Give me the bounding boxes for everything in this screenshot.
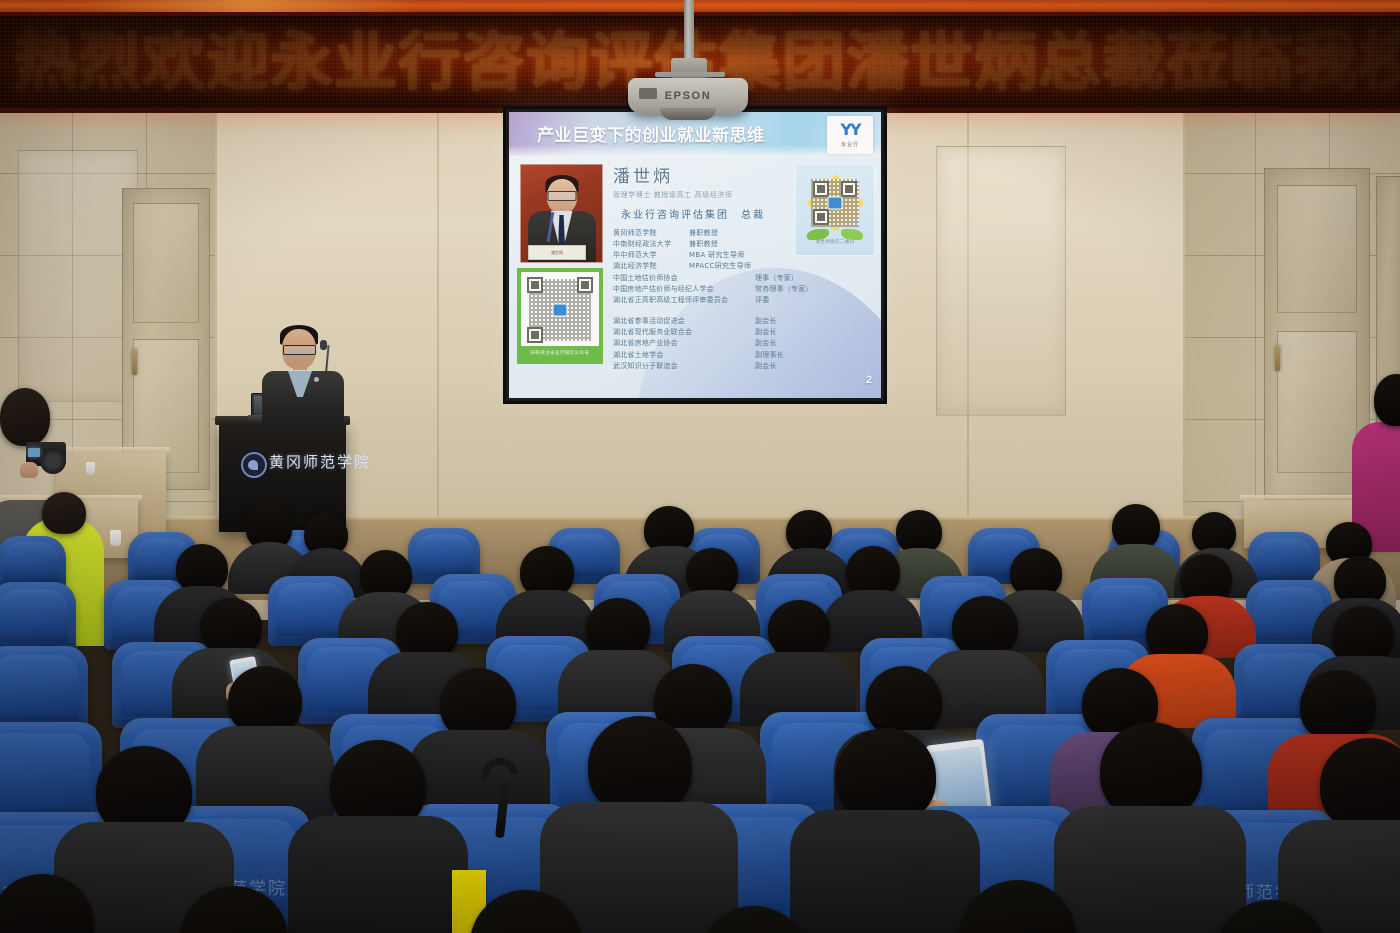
academic-role-title: MPACC研究生导师 (689, 261, 751, 272)
academic-role-row: 华中师范大学 MBA 研究生导师 (613, 250, 785, 261)
association-role-org: 湖北省房地产业协会 (613, 338, 755, 349)
association-role-row: 湖北省参事活动促进会 副会长 (613, 316, 871, 327)
speaker-qualification: 管理学博士 教授级高工 高级经济师 (613, 190, 785, 200)
professional-role-title: 评委 (755, 295, 769, 306)
attendee-body (1054, 806, 1246, 933)
portrait-glasses-icon (547, 191, 576, 201)
attendee-head (768, 600, 830, 658)
academic-role-org: 湖北经济学院 (613, 261, 689, 272)
association-role-org: 武汉知识分子联谊会 (613, 361, 755, 372)
attendee-head (1300, 670, 1376, 742)
professional-role-org: 中国土地估价师协会 (613, 273, 755, 284)
company-logo: YY 永业行 (827, 116, 873, 154)
photographer-head (0, 388, 50, 446)
projector-brand-label: EPSON (628, 90, 748, 102)
attendee-body (790, 810, 980, 933)
professional-role-row: 中国房地产估价师与经纪人学会 常务理事（专家） (613, 284, 871, 295)
wechat-logo-icon (828, 197, 843, 210)
academic-role-org: 中南财经政法大学 (613, 239, 689, 250)
academic-role-title: 兼职教授 (689, 239, 718, 250)
speaker-company-title: 永业行咨询评估集团 总裁 (613, 206, 785, 221)
photographer-hand (20, 462, 38, 478)
projector-arm (655, 72, 725, 77)
portrait-nameplate: 潘世炳 (528, 245, 586, 260)
association-role-row: 湖北省土地学会 副理事长 (613, 350, 871, 361)
attendee-body (288, 816, 468, 933)
association-role-row: 湖北省房地产业协会 副会长 (613, 338, 871, 349)
wechat-qr-sunflower: 潘世炳微信二维码 (795, 164, 875, 256)
wechat-qr-official: 扫码关注永业行微信公众号 (517, 268, 603, 364)
association-role-title: 副会长 (755, 338, 777, 349)
lecture-hall-photo: 热烈欢迎永业行咨询评估集团潘世炳总裁莅临我校讲座 EPSON 产业巨变下的创业就… (0, 0, 1400, 933)
slide-title: 产业巨变下的创业就业新思维 (537, 121, 765, 146)
projector-mount-pole (684, 0, 694, 66)
academic-role-row: 湖北经济学院 MPACC研究生导师 (613, 261, 785, 272)
company-logo-mark: YY (840, 122, 859, 138)
presenter (258, 325, 352, 430)
professional-role-title: 常务理事（专家） (755, 284, 813, 295)
speaker-name: 潘世炳 (613, 162, 785, 187)
association-role-org: 湖北省参事活动促进会 (613, 316, 755, 327)
lapel-mic-icon (314, 377, 319, 382)
professional-role-org: 中国房地产估价师与经纪人学会 (613, 284, 755, 295)
association-role-org: 湖北省现代服务业联合会 (613, 327, 755, 338)
projector-lens-housing (660, 108, 716, 120)
association-role-title: 副会长 (755, 316, 777, 327)
attendee-head (586, 598, 650, 658)
projection-screen: 产业巨变下的创业就业新思维 YY 永业行 潘世炳 (503, 106, 887, 404)
camera-screen (28, 448, 40, 457)
company-logo-subtext: 永业行 (841, 141, 859, 148)
association-role-title: 副会长 (755, 327, 777, 338)
association-roles-list: 湖北省参事活动促进会 副会长 湖北省现代服务业联合会 副会长 湖北省房地产业协会… (613, 316, 871, 372)
academic-role-row: 黄冈师范学院 兼职教授 (613, 228, 785, 239)
attendee-head (866, 666, 942, 738)
academic-role-org: 黄冈师范学院 (613, 228, 689, 239)
slide-content: 产业巨变下的创业就业新思维 YY 永业行 潘世炳 (509, 112, 881, 398)
wechat-logo-icon (553, 304, 568, 317)
academic-role-title: MBA 研究生导师 (689, 250, 745, 261)
podium-institution-name: 黄冈师范学院 (269, 451, 371, 472)
academic-role-row: 中南财经政法大学 兼职教授 (613, 239, 785, 250)
speaker-portrait: 潘世炳 (520, 164, 603, 263)
camera-lens-icon (40, 448, 66, 474)
association-role-title: 副理事长 (755, 350, 784, 361)
slide-page-number: 2 (866, 374, 872, 386)
academic-roles-list: 黄冈师范学院 兼职教授 中南财经政法大学 兼职教授 华中师范大学 MBA 研究生… (613, 228, 785, 271)
academic-role-title: 兼职教授 (689, 228, 718, 239)
association-role-title: 副会长 (755, 361, 777, 372)
professional-role-row: 中国土地估价师协会 理事（专家） (613, 273, 871, 284)
attendee-head (588, 716, 692, 816)
wall-recess-left (18, 150, 138, 402)
qr-green-caption: 扫码关注永业行微信公众号 (521, 346, 599, 360)
cup-on-desk (110, 530, 121, 546)
slide-body: 潘世炳 潘世炳 管理学博士 教授级高工 高级经济师 永业行咨询评估集团 总裁 黄… (509, 156, 881, 398)
door-left[interactable] (122, 188, 210, 490)
seat[interactable] (0, 646, 88, 732)
attendee-head (952, 596, 1018, 658)
academic-role-org: 华中师范大学 (613, 250, 689, 261)
association-role-row: 武汉知识分子联谊会 副会长 (613, 361, 871, 372)
attendee-head (42, 492, 86, 534)
seat[interactable] (0, 582, 76, 652)
sunflower-graphic (801, 169, 869, 237)
professional-roles-list: 中国土地估价师协会 理事（专家） 中国房地产估价师与经纪人学会 常务理事（专家）… (613, 273, 871, 307)
association-role-row: 湖北省现代服务业联合会 副会长 (613, 327, 871, 338)
speaker-bio-block: 潘世炳 管理学博士 教授级高工 高级经济师 永业行咨询评估集团 总裁 黄冈师范学… (613, 162, 785, 271)
wall-recess-right (936, 146, 1066, 416)
qr-code-icon (525, 275, 595, 345)
audience-area: 黄冈师范学院 黄冈师范学院 黄冈师范学院 (0, 470, 1400, 933)
professional-role-org: 湖北省正高职高级工程师评审委员会 (613, 295, 755, 306)
professional-role-title: 理事（专家） (755, 273, 798, 284)
professional-role-row: 湖北省正高职高级工程师评审委员会 评委 (613, 295, 871, 306)
association-role-org: 湖北省土地学会 (613, 350, 755, 361)
glasses-icon (283, 345, 316, 355)
qr-sunflower-caption: 潘世炳微信二维码 (815, 239, 854, 245)
